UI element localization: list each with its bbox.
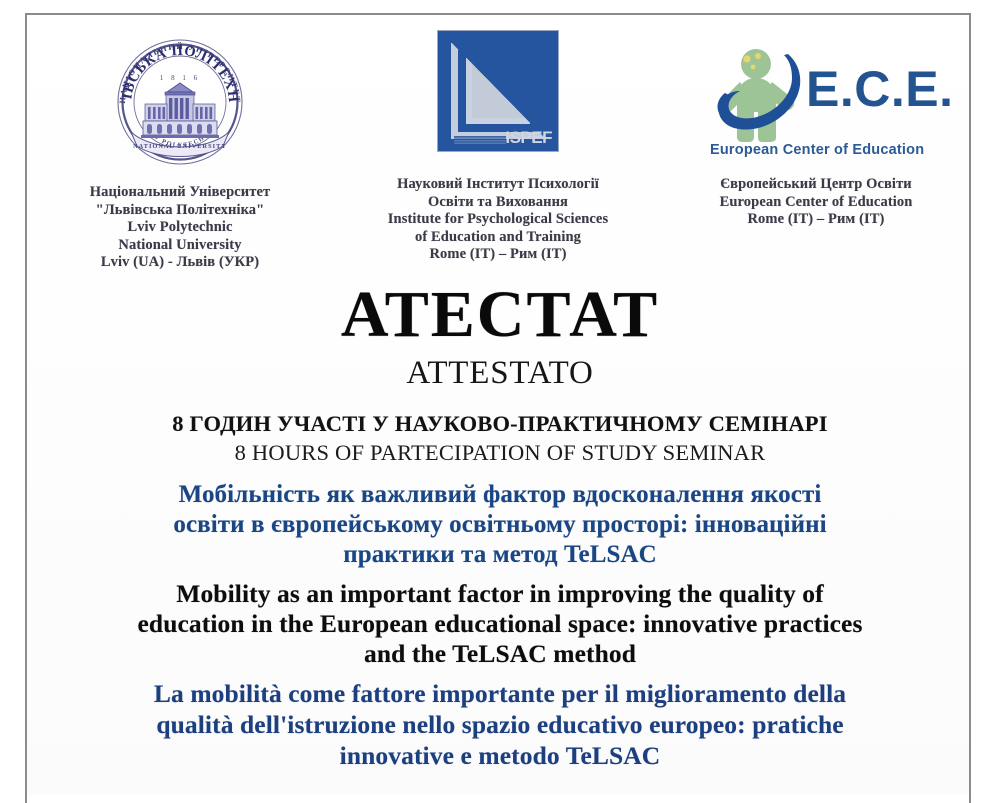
seminar-line: практики та метод TeLSAC [30,540,970,570]
caption-line: Науковий Інститут Психології [388,176,608,194]
participation-hours-ua: 8 ГОДИН УЧАСТІ У НАУКОВО-ПРАКТИЧНОМУ СЕМ… [30,410,970,437]
seminar-title-english: Mobility as an important factor in impro… [30,579,970,669]
certificate-title-sub: ATTESTATO [30,352,970,394]
caption-line: "Львівська Політехніка" [90,202,270,220]
svg-text:NATIONAL UNIVERSITY: NATIONAL UNIVERSITY [133,143,227,150]
certificate-body: АТЕСТАТ ATTESTATO 8 ГОДИН УЧАСТІ У НАУКО… [30,280,970,771]
caption-line: Rome (IT) – Рим (IT) [720,211,913,229]
caption-line: of Education and Training [388,229,608,247]
caption-line: National University [90,237,270,255]
seminar-line: innovative e metodo TeLSAC [30,740,970,771]
seminar-line: Mobility as an important factor in impro… [30,579,970,609]
certificate-title-main: АТЕСТАТ [30,280,970,350]
seminar-line: education in the European educational sp… [30,609,970,639]
participation-hours-en: 8 HOURS OF PARTECIPATION OF STUDY SEMINA… [30,439,970,467]
logo-caption-ispef: Науковий Інститут Психології Освіти та В… [388,176,608,264]
caption-line: Lviv (UA) - Львів (УКР) [90,254,270,272]
caption-line: Національний Університет [90,184,270,202]
institution-logo-row: НАЦІОНАЛЬНИЙ УНІВЕРСИТЕТ ЛЬВІВСЬКА ПОЛІТ… [30,18,966,273]
ece-letters: E.C.E. [806,64,953,114]
seminar-line: qualità dell'istruzione nello spazio edu… [30,709,970,740]
logo-block-ispef: ISPEF Науковий Інститут Психології Освіт… [343,18,653,264]
logo-caption-lviv: Національний Університет "Львівська Полі… [90,184,270,272]
logo-block-lviv-polytechnic: НАЦІОНАЛЬНИЙ УНІВЕРСИТЕТ ЛЬВІВСЬКА ПОЛІТ… [30,18,330,272]
seminar-line: La mobilità come fattore importante per … [30,678,970,709]
ece-figure-orbit-icon [716,42,812,142]
caption-line: Rome (IT) – Рим (IT) [388,246,608,264]
logo-block-ece: E.C.E. European Center of Education Євро… [666,18,966,229]
logo-caption-ece: Європейський Центр Освіти European Cente… [720,176,913,229]
ispef-square-logo-icon: ISPEF [437,30,559,152]
svg-text:1 8 1 6: 1 8 1 6 [160,74,200,82]
seminar-line: освіти в європейському освітньому просто… [30,510,970,540]
caption-line: Освіти та Виховання [388,194,608,212]
caption-line: Lviv Polytechnic [90,219,270,237]
ispef-wordmark: ISPEF [438,129,552,146]
seminar-title-ukrainian: Мобільність як важливий фактор вдосконал… [30,480,970,570]
ece-tagline: European Center of Education [710,142,922,158]
seminar-title-italian: La mobilità come fattore importante per … [30,678,970,771]
seminar-line: Мобільність як важливий фактор вдосконал… [30,480,970,510]
caption-line: European Center of Education [720,194,913,212]
ece-logo: E.C.E. European Center of Education [710,42,922,162]
caption-line: Institute for Psychological Sciences [388,211,608,229]
seminar-line: and the TeLSAC method [30,639,970,669]
lviv-polytechnic-seal-icon: НАЦІОНАЛЬНИЙ УНІВЕРСИТЕТ ЛЬВІВСЬКА ПОЛІТ… [105,26,255,174]
caption-line: Європейський Центр Освіти [720,176,913,194]
certificate-page: НАЦІОНАЛЬНИЙ УНІВЕРСИТЕТ ЛЬВІВСЬКА ПОЛІТ… [0,0,1000,766]
